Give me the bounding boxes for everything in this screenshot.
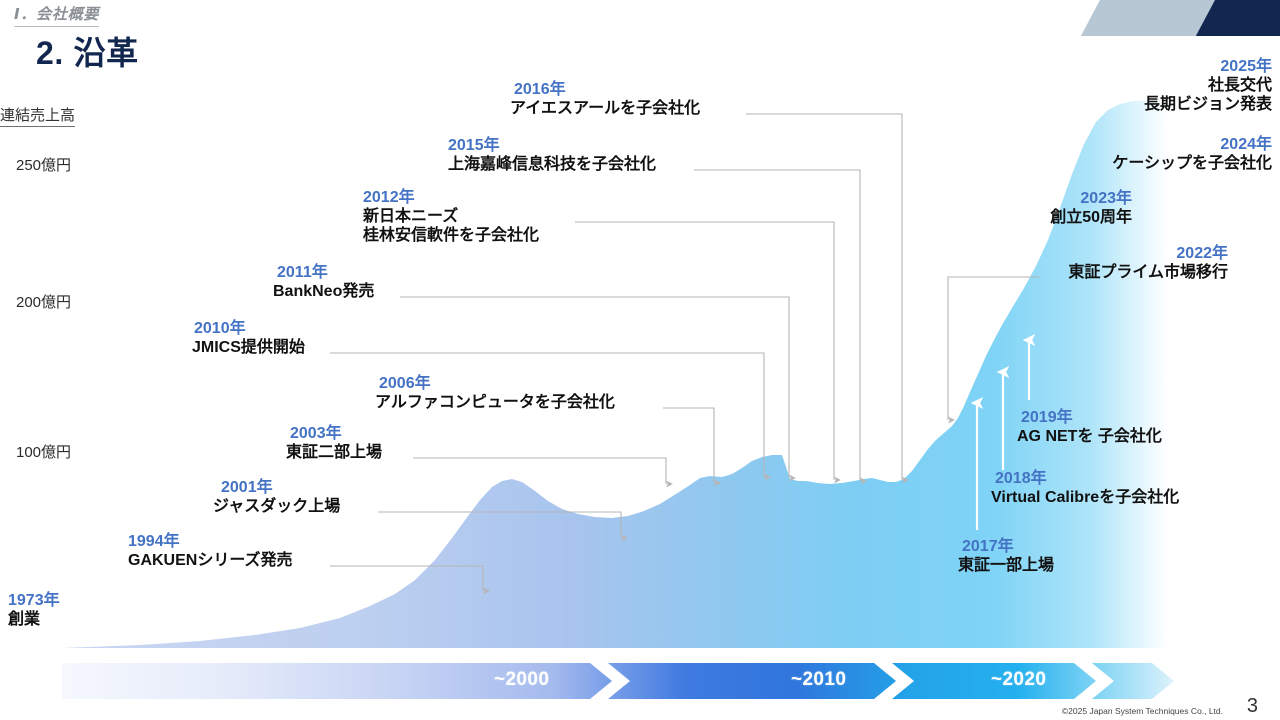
milestone-2001: 2001年 ジャスダック上場 — [213, 479, 340, 517]
milestone-2018: 2018年 Virtual Calibreを子会社化 — [991, 470, 1179, 508]
milestone-year: 2022年 — [1068, 245, 1228, 264]
connector-2015 — [694, 170, 860, 481]
milestone-year: 2006年 — [379, 375, 615, 394]
milestone-2003: 2003年 東証二部上場 — [286, 425, 382, 463]
milestone-2024: 2024年 ケーシップを子会社化 — [1112, 136, 1272, 174]
connector-2010 — [330, 353, 764, 477]
milestone-year: 2024年 — [1112, 136, 1272, 155]
milestone-text: GAKUENシリーズ発売 — [128, 552, 293, 571]
milestone-2016: 2016年 アイエスアールを子会社化 — [510, 81, 700, 119]
milestone-year: 2003年 — [290, 425, 382, 444]
y-tick-200: 200億円 — [16, 291, 71, 312]
timeline-label-2010: ~2010 — [791, 669, 846, 691]
milestone-2022: 2022年 東証プライム市場移行 — [1068, 245, 1228, 283]
milestone-year: 2015年 — [448, 137, 656, 156]
connector-2003 — [413, 458, 666, 484]
milestone-text: JMICS提供開始 — [192, 339, 305, 358]
milestone-year: 2019年 — [1021, 409, 1162, 428]
connector-2006 — [663, 408, 714, 483]
timeline-label-2020: ~2020 — [991, 669, 1046, 691]
milestone-text: 東証一部上場 — [958, 557, 1054, 576]
milestone-2019: 2019年 AG NETを 子会社化 — [1017, 409, 1162, 447]
connector-2022 — [948, 277, 1040, 420]
page-title: 2. 沿革 — [36, 28, 139, 74]
milestone-text: AG NETを 子会社化 — [1017, 428, 1162, 447]
milestone-1973: 1973年 創業 — [8, 592, 60, 630]
milestone-year: 2001年 — [221, 479, 340, 498]
milestone-year: 1973年 — [8, 592, 60, 611]
milestone-2025: 2025年 社長交代 長期ビジョン発表 — [1144, 58, 1272, 115]
milestone-year: 2018年 — [995, 470, 1179, 489]
milestone-year: 2017年 — [962, 538, 1054, 557]
milestone-text: アルファコンピュータを子会社化 — [375, 394, 615, 413]
connector-2001 — [378, 512, 621, 538]
milestone-text: アイエスアールを子会社化 — [510, 100, 700, 119]
header-corner-decoration — [1040, 0, 1280, 36]
section-label: Ⅰ．会社概要 — [14, 3, 99, 27]
milestone-text: Virtual Calibreを子会社化 — [991, 489, 1179, 508]
page-number: 3 — [1247, 695, 1258, 718]
milestone-2017: 2017年 東証一部上場 — [958, 538, 1054, 576]
milestone-2010: 2010年 JMICS提供開始 — [192, 320, 305, 358]
connector-1994 — [330, 566, 483, 591]
milestone-2012: 2012年 新日本ニーズ 桂林安信軟件を子会社化 — [363, 189, 539, 246]
milestone-text-line2: 桂林安信軟件を子会社化 — [363, 227, 539, 246]
milestone-year: 2012年 — [363, 189, 539, 208]
connector-lines — [330, 114, 1040, 591]
milestone-year: 1994年 — [128, 533, 293, 552]
milestone-text: 東証プライム市場移行 — [1068, 264, 1228, 283]
axis-title: 連結売上高 — [0, 104, 75, 127]
y-tick-100: 100億円 — [16, 441, 71, 462]
section-label-text: Ⅰ．会社概要 — [14, 3, 99, 27]
milestone-text: ケーシップを子会社化 — [1112, 155, 1272, 174]
milestone-text: BankNeo発売 — [273, 283, 374, 302]
milestone-2023: 2023年 創立50周年 — [1050, 190, 1132, 228]
slide-root: Ⅰ．会社概要 2. 沿革 連結売上高 250億円 200億円 100億円 — [0, 0, 1280, 720]
milestone-2006: 2006年 アルファコンピュータを子会社化 — [375, 375, 615, 413]
timeline-label-2000: ~2000 — [494, 669, 549, 691]
milestone-text: 上海嘉峰信息科技を子会社化 — [448, 156, 656, 175]
milestone-2015: 2015年 上海嘉峰信息科技を子会社化 — [448, 137, 656, 175]
milestone-year: 2023年 — [1050, 190, 1132, 209]
milestone-text: 東証二部上場 — [286, 444, 382, 463]
copyright-text: ©2025 Japan System Techniques Co., Ltd. — [1062, 706, 1223, 716]
milestone-text-line1: 社長交代 — [1144, 77, 1272, 96]
milestone-year: 2025年 — [1144, 58, 1272, 77]
milestone-text: ジャスダック上場 — [213, 498, 340, 517]
milestone-text-line1: 新日本ニーズ — [363, 208, 539, 227]
connector-2016 — [746, 114, 902, 480]
milestone-year: 2010年 — [194, 320, 305, 339]
milestone-text-line2: 長期ビジョン発表 — [1144, 96, 1272, 115]
milestone-text: 創業 — [8, 611, 60, 630]
milestone-1994: 1994年 GAKUENシリーズ発売 — [128, 533, 293, 571]
y-tick-250: 250億円 — [16, 154, 71, 175]
milestone-year: 2016年 — [514, 81, 700, 100]
milestone-year: 2011年 — [277, 264, 374, 283]
milestone-2011: 2011年 BankNeo発売 — [273, 264, 374, 302]
milestone-text: 創立50周年 — [1050, 209, 1132, 228]
connector-2012 — [575, 222, 834, 480]
